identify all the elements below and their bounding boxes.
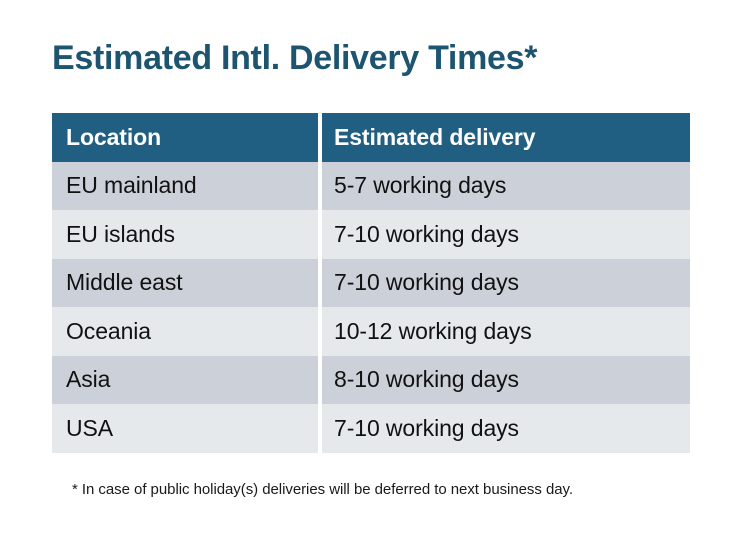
table-row: Asia 8-10 working days bbox=[52, 356, 690, 405]
delivery-times-page: Estimated Intl. Delivery Times* Location… bbox=[0, 0, 745, 536]
table-row: EU mainland 5-7 working days bbox=[52, 162, 690, 211]
cell-location: EU islands bbox=[52, 210, 318, 259]
delivery-times-table: Location Estimated delivery EU mainland … bbox=[52, 113, 690, 453]
cell-location: USA bbox=[52, 404, 318, 453]
table-row: USA 7-10 working days bbox=[52, 404, 690, 453]
table-header-location: Location bbox=[52, 113, 318, 162]
cell-delivery: 10-12 working days bbox=[322, 307, 690, 356]
cell-location: Middle east bbox=[52, 259, 318, 308]
table-header-row: Location Estimated delivery bbox=[52, 113, 690, 162]
cell-location: Asia bbox=[52, 356, 318, 405]
table-row: Middle east 7-10 working days bbox=[52, 259, 690, 308]
cell-delivery: 8-10 working days bbox=[322, 356, 690, 405]
table-row: EU islands 7-10 working days bbox=[52, 210, 690, 259]
cell-delivery: 7-10 working days bbox=[322, 210, 690, 259]
table-row: Oceania 10-12 working days bbox=[52, 307, 690, 356]
cell-delivery: 5-7 working days bbox=[322, 162, 690, 211]
page-title: Estimated Intl. Delivery Times* bbox=[52, 36, 537, 80]
cell-delivery: 7-10 working days bbox=[322, 259, 690, 308]
cell-location: Oceania bbox=[52, 307, 318, 356]
table-header-delivery: Estimated delivery bbox=[322, 113, 690, 162]
footnote-text: * In case of public holiday(s) deliverie… bbox=[72, 481, 573, 498]
cell-location: EU mainland bbox=[52, 162, 318, 211]
cell-delivery: 7-10 working days bbox=[322, 404, 690, 453]
